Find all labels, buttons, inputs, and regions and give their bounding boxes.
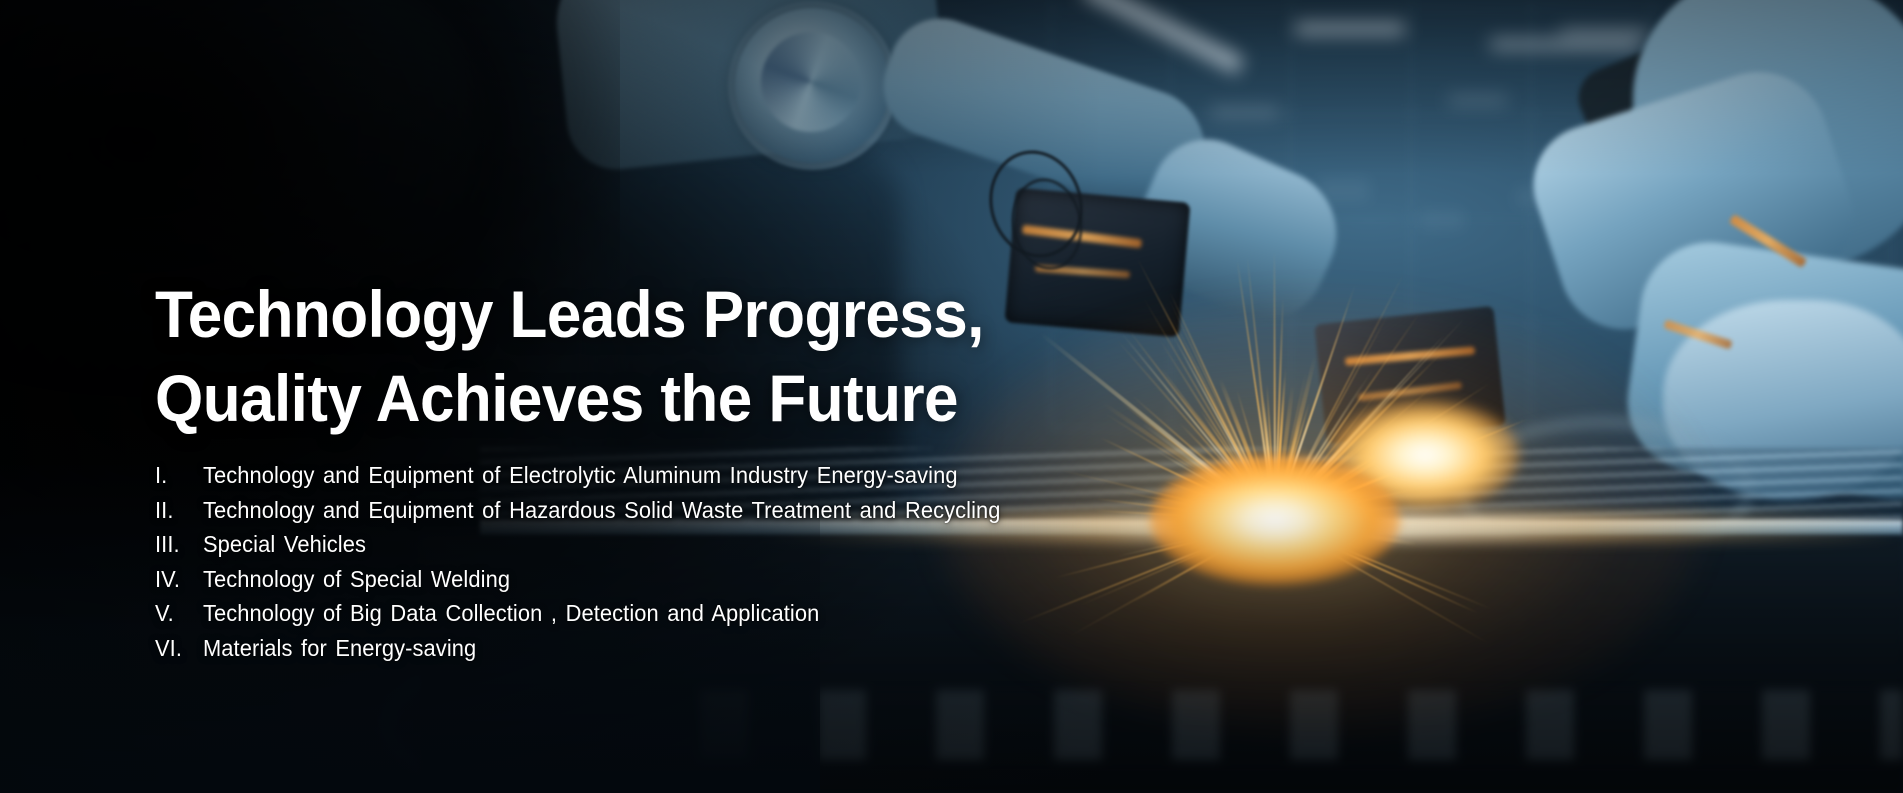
- topic-item: VI.Materials for Energy-saving: [155, 631, 1305, 666]
- topic-label: Special Vehicles: [203, 527, 366, 562]
- topic-label: Technology and Equipment of Hazardous So…: [203, 493, 1001, 528]
- topic-item: V.Technology of Big Data Collection , De…: [155, 596, 1305, 631]
- topic-numeral: VI.: [155, 631, 201, 666]
- topic-item: IV.Technology of Special Welding: [155, 562, 1305, 597]
- topic-label: Materials for Energy-saving: [203, 631, 476, 666]
- topic-item: I.Technology and Equipment of Electrolyt…: [155, 458, 1305, 493]
- topic-item: III.Special Vehicles: [155, 527, 1305, 562]
- topic-numeral: V.: [155, 596, 201, 631]
- headline-line-2: Quality Achieves the Future: [155, 356, 1236, 440]
- topic-numeral: IV.: [155, 562, 201, 597]
- topic-numeral: III.: [155, 527, 201, 562]
- topic-numeral: II.: [155, 493, 201, 528]
- topic-numeral: I.: [155, 458, 201, 493]
- headline-line-1: Technology Leads Progress,: [155, 272, 1236, 356]
- topic-label: Technology and Equipment of Electrolytic…: [203, 458, 958, 493]
- topic-label: Technology of Big Data Collection , Dete…: [203, 596, 819, 631]
- banner-content: Technology Leads Progress, Quality Achie…: [155, 272, 1305, 665]
- topic-list: I.Technology and Equipment of Electrolyt…: [155, 458, 1305, 665]
- topic-item: II.Technology and Equipment of Hazardous…: [155, 493, 1305, 528]
- hero-banner: Technology Leads Progress, Quality Achie…: [0, 0, 1903, 793]
- topic-label: Technology of Special Welding: [203, 562, 510, 597]
